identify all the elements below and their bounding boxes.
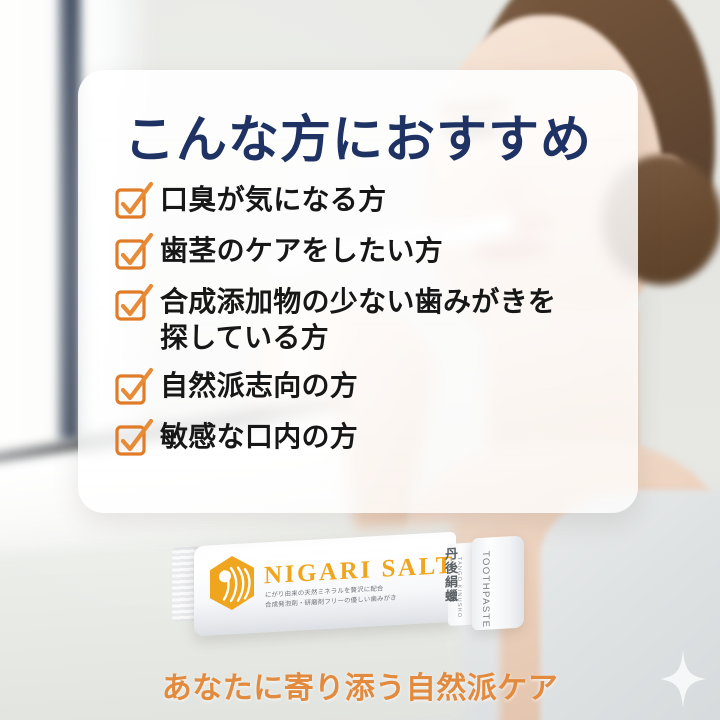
checklist: 口臭が気になる方 歯茎のケアをしたい方 合成添加物の xyxy=(114,182,616,470)
checklist-item-3: 合成添加物の少ない歯みがきを 探している方 xyxy=(114,284,616,357)
checklist-item-label: 合成添加物の少ない歯みがきを 探している方 xyxy=(160,284,556,357)
toothpaste-tube: NIGARI SALT にがり由来の天然ミネラルを贅沢に配合 合成発泡剤・研磨剤… xyxy=(172,525,524,640)
checklist-item-label: 敏感な口内の方 xyxy=(160,419,358,455)
checklist-item-1: 口臭が気になる方 xyxy=(114,182,616,220)
tagline: あなたに寄り添う自然派ケア xyxy=(0,663,720,707)
checkbox-checked-icon xyxy=(114,186,148,220)
checklist-item-5: 敏感な口内の方 xyxy=(114,419,616,457)
checkbox-checked-icon xyxy=(114,237,148,271)
checklist-item-2: 歯茎のケアをしたい方 xyxy=(114,233,616,271)
nigari-wave-hexagon-logo xyxy=(208,555,256,612)
checkbox-checked-icon xyxy=(114,423,148,457)
checklist-item-label: 口臭が気になる方 xyxy=(160,182,386,218)
card-title: こんな方におすすめ xyxy=(78,98,638,172)
sparkle-diamond-icon xyxy=(660,650,706,708)
checklist-item-label: 自然派志向の方 xyxy=(160,368,358,404)
checkbox-checked-icon xyxy=(114,372,148,406)
product-category: TOOTHPASTE xyxy=(480,551,491,629)
checklist-item-4: 自然派志向の方 xyxy=(114,368,616,406)
checkbox-checked-icon xyxy=(114,288,148,322)
recommendation-card: こんな方におすすめ 口臭が気になる方 歯茎のケアをしたい方 xyxy=(78,70,638,513)
product-romaji: TANGO KINUSHO xyxy=(456,557,462,619)
checklist-item-label: 歯茎のケアをしたい方 xyxy=(160,233,443,269)
